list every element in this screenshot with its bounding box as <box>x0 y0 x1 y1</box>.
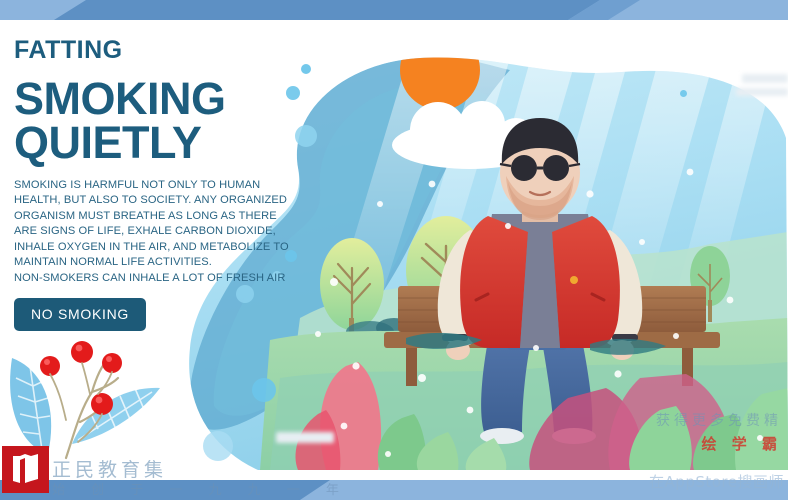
watermark-appstore-line: 在AppStore搜画师 <box>649 471 784 492</box>
body-line: MAINTAIN NORMAL LIFE ACTIVITIES. <box>14 255 304 271</box>
ghost-block-top-2 <box>736 88 788 96</box>
decorative-dot <box>203 431 233 461</box>
ghost-block-bottom <box>276 432 334 443</box>
poster-canvas: FATTING SMOKING QUIETLY SMOKING IS HARMF… <box>0 0 788 500</box>
body-line: ORGANISM MUST BREATHE AS LONG AS THERE <box>14 209 304 225</box>
headline-block: FATTING SMOKING QUIETLY SMOKING IS HARMF… <box>14 38 304 331</box>
body-line: HEALTH, BUT ALSO TO SOCIETY. ANY ORGANIZ… <box>14 193 304 209</box>
eyebrow-label: FATTING <box>14 38 304 63</box>
page-title-line-1: SMOKING <box>14 78 304 121</box>
ghost-block-top <box>742 74 788 83</box>
watermark-left-main: 正民教育集 <box>52 455 167 482</box>
body-line: ARE SIGNS OF LIFE, EXHALE CARBON DIOXIDE… <box>14 224 304 240</box>
no-smoking-button[interactable]: NO SMOKING <box>14 298 146 331</box>
body-line: SMOKING IS HARMFUL NOT ONLY TO HUMAN <box>14 178 304 194</box>
decorative-dot <box>252 378 276 402</box>
berry-branch <box>40 341 122 458</box>
decorative-dot <box>680 90 687 97</box>
watermark-left-sub: 始 创 于 一 九 九 一 年 <box>52 479 350 498</box>
watermark-logo <box>2 446 49 493</box>
watermark-brand: 绘 学 霸 <box>656 433 782 454</box>
sun <box>400 30 480 110</box>
watermark-right-block: 获得更多免费精 绘 学 霸 <box>656 410 782 454</box>
page-title-line-2: QUIETLY <box>14 122 304 165</box>
body-line: NON-SMOKERS CAN INHALE A LOT OF FRESH AI… <box>14 271 304 287</box>
body-paragraph: SMOKING IS HARMFUL NOT ONLY TO HUMANHEAL… <box>14 178 304 287</box>
body-line: INHALE OXYGEN IN THE AIR, AND METABOLIZE… <box>14 240 304 256</box>
watermark-right-line-1: 获得更多免费精 <box>656 410 782 430</box>
